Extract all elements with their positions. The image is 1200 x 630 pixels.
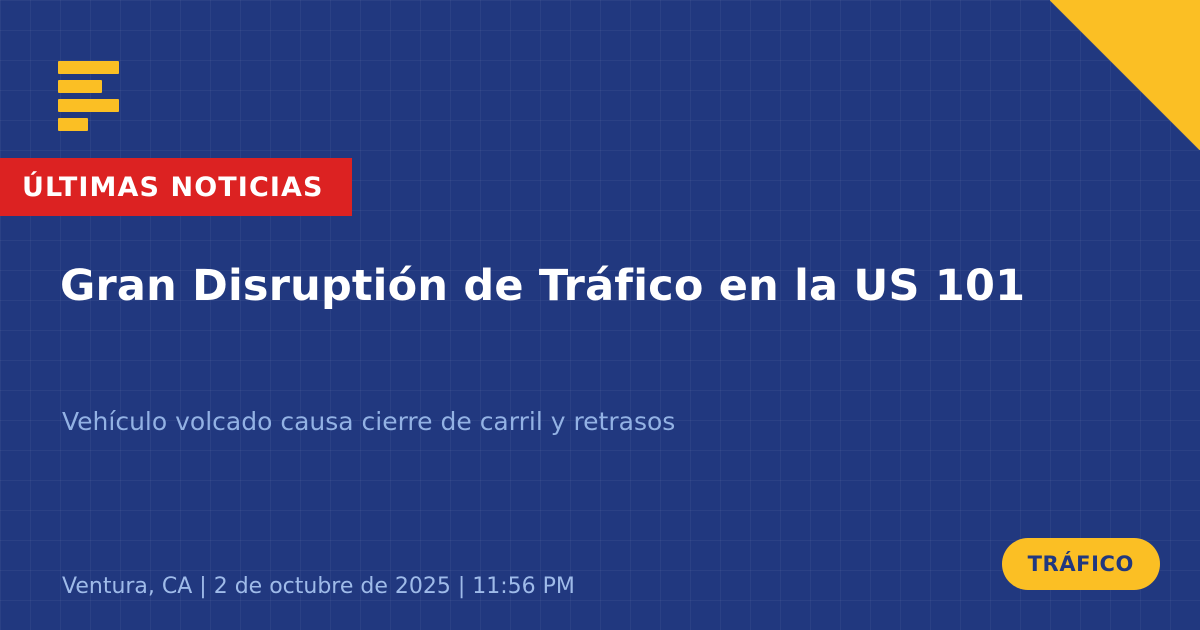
category-badge: TRÁFICO xyxy=(1002,538,1160,590)
page-title: Gran Disruptión de Tráfico en la US 101 xyxy=(60,261,1160,312)
logo-bar-2 xyxy=(58,80,102,93)
logo-bar-4 xyxy=(58,118,88,131)
category-badge-label: TRÁFICO xyxy=(1028,554,1134,575)
logo-bar-3 xyxy=(58,99,119,112)
logo-bar-1 xyxy=(58,61,119,74)
brand-logo xyxy=(58,61,148,131)
meta-line: Ventura, CA | 2 de octubre de 2025 | 11:… xyxy=(62,576,575,598)
breaking-news-badge: ÚLTIMAS NOTICIAS xyxy=(0,158,352,216)
breaking-news-label: ÚLTIMAS NOTICIAS xyxy=(22,174,324,201)
subtitle-text: Vehículo volcado causa cierre de carril … xyxy=(62,405,1140,439)
news-card: ÚLTIMAS NOTICIAS Gran Disruptión de Tráf… xyxy=(0,0,1200,630)
corner-wedge-accent xyxy=(1050,0,1200,150)
